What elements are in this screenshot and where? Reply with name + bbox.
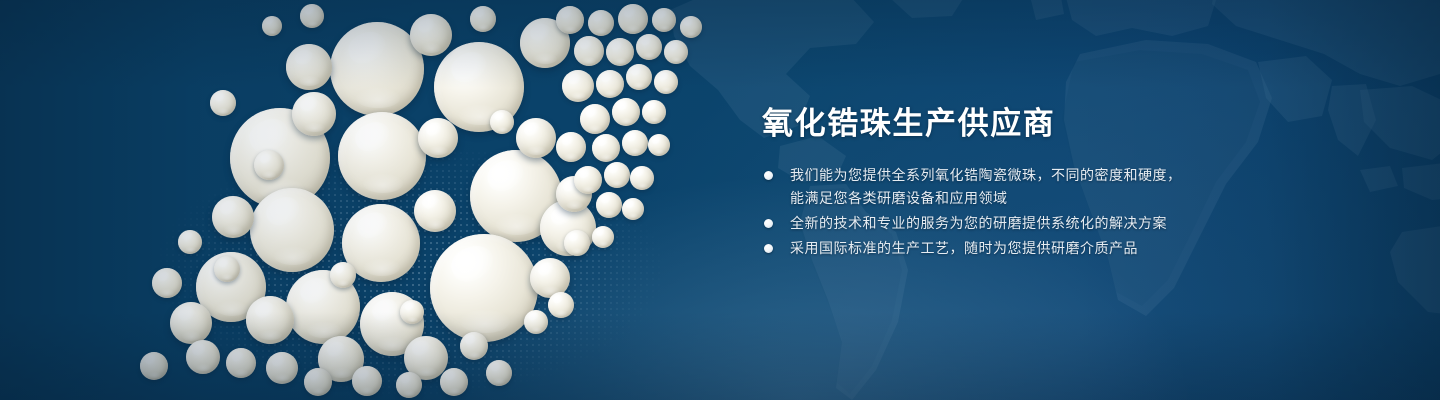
- bullet-text-line1: 采用国际标准的生产工艺，随时为您提供研磨介质产品: [790, 237, 1292, 260]
- bullet-circle-icon: [764, 244, 773, 253]
- bullet-circle-icon: [764, 219, 773, 228]
- bullet-text-line1: 全新的技术和专业的服务为您的研磨提供系统化的解决方案: [790, 212, 1292, 235]
- hero-banner: 氧化锆珠生产供应商 我们能为您提供全系列氧化锆陶瓷微珠，不同的密度和硬度， 能满…: [0, 0, 1440, 400]
- feature-bullet-list: 我们能为您提供全系列氧化锆陶瓷微珠，不同的密度和硬度， 能满足您各类研磨设备和应…: [762, 164, 1292, 260]
- bullet-circle-icon: [764, 171, 773, 180]
- list-item: 我们能为您提供全系列氧化锆陶瓷微珠，不同的密度和硬度， 能满足您各类研磨设备和应…: [762, 164, 1292, 210]
- bullet-text-line2: 能满足您各类研磨设备和应用领域: [790, 187, 1292, 210]
- page-title: 氧化锆珠生产供应商: [762, 104, 1292, 144]
- bullet-text-line1: 我们能为您提供全系列氧化锆陶瓷微珠，不同的密度和硬度，: [790, 164, 1292, 187]
- list-item: 全新的技术和专业的服务为您的研磨提供系统化的解决方案: [762, 212, 1292, 235]
- list-item: 采用国际标准的生产工艺，随时为您提供研磨介质产品: [762, 237, 1292, 260]
- banner-copy-block: 氧化锆珠生产供应商 我们能为您提供全系列氧化锆陶瓷微珠，不同的密度和硬度， 能满…: [762, 104, 1292, 262]
